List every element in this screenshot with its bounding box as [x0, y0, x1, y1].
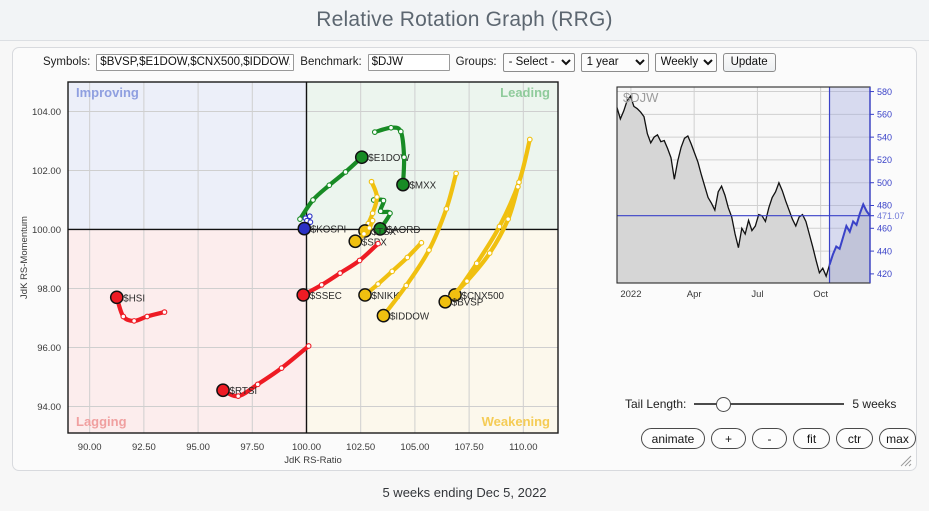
footer-note: 5 weeks ending Dec 5, 2022 [0, 485, 929, 500]
benchmark-y-tick: 580 [877, 87, 892, 97]
period-select[interactable]: 1 year [581, 53, 649, 72]
rrg-tail-point [362, 232, 367, 237]
rrg-tail-point [327, 183, 332, 188]
rrg-tail-point [465, 279, 470, 284]
benchmark-y-tick: 500 [877, 178, 892, 188]
rrg-tail-point [389, 125, 394, 130]
rrg-head-marker[interactable] [356, 151, 368, 163]
rrg-series-label: $BVSP [452, 298, 484, 309]
benchmark-input[interactable] [368, 54, 450, 71]
rrg-tail-point [132, 319, 137, 324]
benchmark-y-tick: 560 [877, 110, 892, 120]
svg-text:98.00: 98.00 [37, 284, 61, 295]
benchmark-x-tick: 2022 [620, 289, 641, 300]
animate-button[interactable]: animate [641, 428, 705, 449]
rrg-tail-point [145, 314, 150, 319]
rrg-head-marker[interactable] [111, 291, 123, 303]
rrg-tail-point [376, 282, 381, 287]
svg-text:90.00: 90.00 [78, 442, 102, 453]
rrg-head-marker[interactable] [377, 310, 389, 322]
resize-grip-icon[interactable] [899, 454, 912, 467]
rrg-tail-point [399, 129, 404, 134]
svg-text:95.00: 95.00 [186, 442, 210, 453]
benchmark-svg: 420440460480500520540560580471.072022Apr… [615, 81, 915, 311]
svg-text:104.00: 104.00 [32, 107, 61, 118]
tail-length-label: Tail Length: [625, 397, 686, 411]
fit-button[interactable]: fit [793, 428, 830, 449]
rrg-series-label: $SSEC [310, 291, 342, 302]
svg-text:Leading: Leading [500, 85, 550, 100]
groups-select[interactable]: - Select - [503, 53, 575, 72]
benchmark-y-tick: 440 [877, 246, 892, 256]
svg-text:92.50: 92.50 [132, 442, 156, 453]
benchmark-label: Benchmark: [300, 56, 361, 68]
symbols-input[interactable] [96, 54, 294, 71]
svg-text:Weakening: Weakening [482, 414, 550, 429]
svg-text:94.00: 94.00 [37, 402, 61, 413]
rrg-series-label: $HSI [123, 293, 145, 304]
max-button[interactable]: max [879, 428, 916, 449]
benchmark-x-tick: Jul [751, 289, 763, 300]
svg-text:102.00: 102.00 [32, 166, 61, 177]
rrg-series-label: $RTSI [230, 386, 258, 397]
rrg-app-panel: Symbols: Benchmark: Groups: - Select - 1… [12, 47, 917, 471]
rrg-head-marker[interactable] [359, 289, 371, 301]
rrg-chart[interactable]: ImprovingLeadingLaggingWeakening90.0092.… [13, 78, 613, 470]
rrg-tail-point [516, 184, 521, 189]
frequency-select[interactable]: Weekly [655, 53, 717, 72]
benchmark-last-value-label: 471.07 [877, 211, 905, 221]
rrg-head-marker[interactable] [439, 296, 451, 308]
rrg-tail-point [381, 198, 386, 203]
rrg-tail-point [390, 269, 395, 274]
rrg-tail-point [419, 240, 424, 245]
rrg-tail-point [378, 209, 383, 214]
rrg-svg: ImprovingLeadingLaggingWeakening90.0092.… [13, 78, 613, 470]
rrg-tail-point [370, 218, 375, 223]
benchmark-symbol-label: $DJW [623, 90, 659, 105]
rrg-tail-point [376, 241, 381, 246]
symbols-label: Symbols: [43, 56, 90, 68]
benchmark-y-tick: 480 [877, 201, 892, 211]
rrg-tail-point [497, 224, 502, 229]
svg-text:110.00: 110.00 [509, 442, 537, 453]
rrg-tail-point [402, 155, 407, 160]
rrg-tail-point [427, 248, 432, 253]
rrg-series-label: $MXX [409, 181, 436, 192]
update-button[interactable]: Update [723, 53, 776, 72]
rrg-tail-point [388, 211, 393, 216]
rrg-head-marker[interactable] [217, 384, 229, 396]
benchmark-y-tick: 420 [877, 269, 892, 279]
svg-text:100.00: 100.00 [292, 442, 321, 453]
tail-length-slider[interactable] [694, 396, 844, 412]
rrg-tail-point [319, 283, 324, 288]
toolbar: Symbols: Benchmark: Groups: - Select - 1… [13, 48, 916, 76]
zoom-in-button[interactable]: + [711, 428, 746, 449]
tail-length-value: 5 weeks [852, 397, 896, 411]
rrg-tail-point [357, 258, 362, 263]
benchmark-x-tick: Oct [813, 289, 828, 300]
svg-text:107.50: 107.50 [455, 442, 484, 453]
rrg-tail-point [444, 207, 449, 212]
rrg-head-marker[interactable] [349, 235, 361, 247]
controls-panel: Tail Length: 5 weeks animate + - fit ctr… [615, 348, 915, 468]
rrg-tail-point [404, 283, 409, 288]
benchmark-y-tick: 540 [877, 132, 892, 142]
rrg-tail-point [121, 314, 126, 319]
rrg-tail-point [367, 226, 372, 231]
svg-text:96.00: 96.00 [37, 343, 61, 354]
benchmark-x-tick: Apr [687, 289, 702, 300]
rrg-tail-point [343, 170, 348, 175]
zoom-out-button[interactable]: - [752, 428, 787, 449]
benchmark-y-tick: 460 [877, 224, 892, 234]
rrg-tail-point [487, 251, 492, 256]
chart-control-buttons: animate + - fit ctr max [641, 428, 916, 449]
rrg-tail-point [306, 344, 311, 349]
tail-length-row: Tail Length: 5 weeks [625, 393, 915, 415]
benchmark-highlight-band [830, 87, 870, 283]
svg-text:JdK RS-Ratio: JdK RS-Ratio [284, 455, 342, 466]
slider-knob[interactable] [716, 397, 731, 412]
rrg-tail-point [528, 137, 533, 142]
rrg-tail-point [517, 180, 522, 185]
rrg-tail-point [369, 179, 374, 184]
svg-text:97.50: 97.50 [240, 442, 264, 453]
groups-label: Groups: [456, 56, 497, 68]
svg-text:100.00: 100.00 [32, 225, 61, 236]
rrg-tail-point [338, 271, 343, 276]
rrg-tail-point [372, 130, 377, 135]
svg-text:102.50: 102.50 [346, 442, 375, 453]
rrg-series-label: $IDDOW [390, 312, 430, 323]
rrg-tail-point [311, 198, 316, 203]
page-title: Relative Rotation Graph (RRG) [0, 0, 929, 41]
rrg-series-label: $KOSPI [311, 225, 346, 236]
rrg-tail-point [405, 255, 410, 260]
svg-text:JdK RS-Momentum: JdK RS-Momentum [19, 216, 30, 299]
benchmark-y-tick: 520 [877, 155, 892, 165]
rrg-head-marker[interactable] [297, 289, 309, 301]
svg-text:Lagging: Lagging [76, 414, 127, 429]
rrg-tail-point [375, 195, 380, 200]
svg-text:105.00: 105.00 [400, 442, 429, 453]
rrg-tail-point [454, 171, 459, 176]
rrg-tail-point [370, 211, 375, 216]
rrg-tail-point [279, 366, 284, 371]
svg-text:Improving: Improving [76, 85, 139, 100]
benchmark-chart[interactable]: 420440460480500520540560580471.072022Apr… [615, 81, 915, 311]
rrg-tail-point [162, 310, 167, 315]
center-button[interactable]: ctr [836, 428, 873, 449]
rrg-tail-point [298, 217, 303, 222]
rrg-tail-point [506, 217, 511, 222]
rrg-head-marker[interactable] [298, 222, 310, 234]
rrg-tail-point [307, 214, 312, 219]
rrg-head-marker[interactable] [397, 179, 409, 191]
